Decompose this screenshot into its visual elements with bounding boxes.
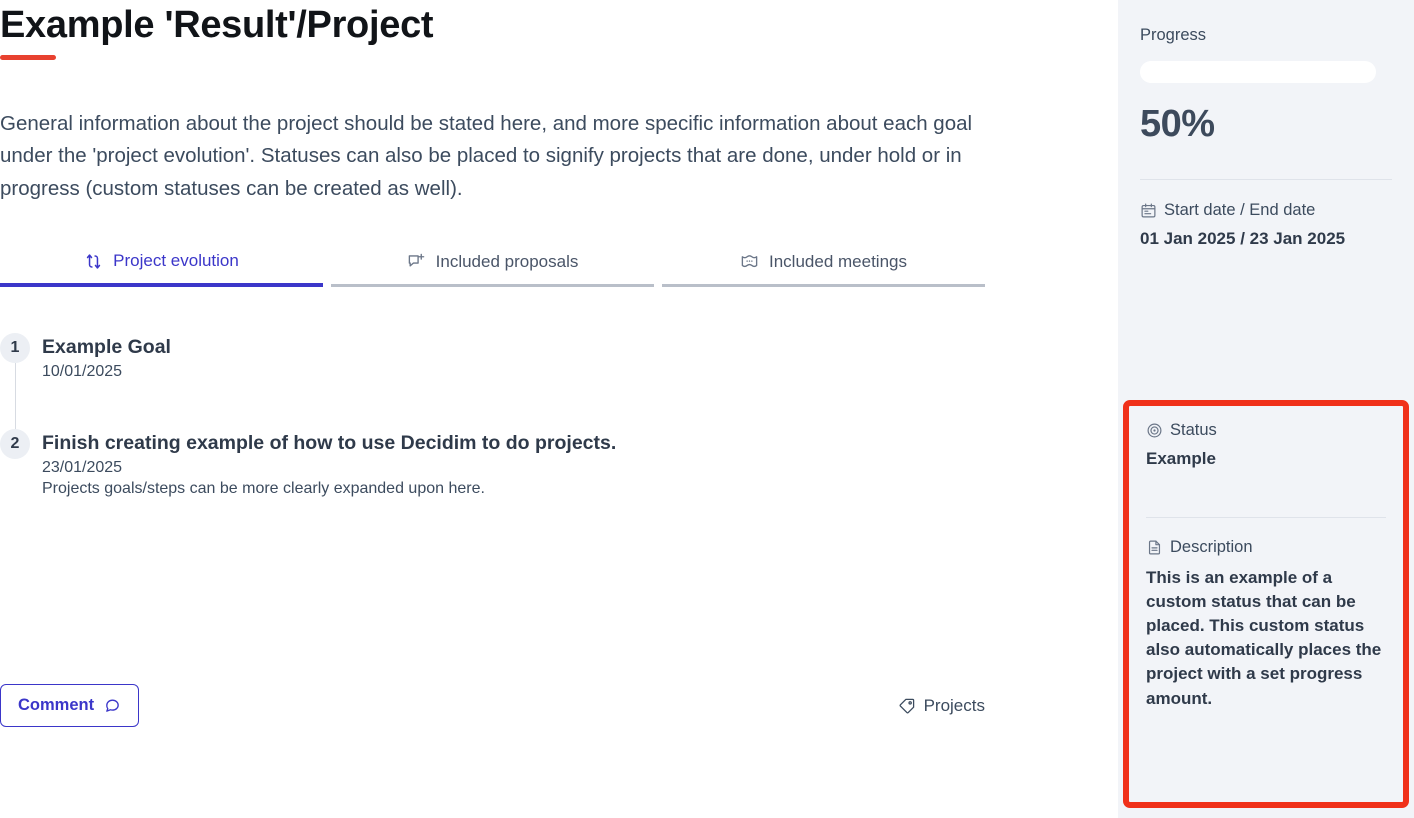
- timeline-item-title: Example Goal: [42, 335, 171, 359]
- timeline-step-number: 1: [0, 333, 30, 363]
- tab-bar: Project evolution Included proposals: [0, 251, 985, 287]
- description-value: This is an example of a custom status th…: [1146, 566, 1386, 711]
- timeline-step-number: 2: [0, 429, 30, 459]
- timeline-connector-line: [15, 363, 17, 435]
- title-accent-rule: [0, 55, 56, 60]
- timeline-item: 1 Example Goal 10/01/2025: [0, 333, 1100, 429]
- progress-bar: [1140, 61, 1376, 83]
- tab-label: Included meetings: [769, 252, 907, 272]
- comment-button-label: Comment: [18, 696, 94, 715]
- project-evolution-timeline: 1 Example Goal 10/01/2025 2 Finish creat…: [0, 333, 1100, 506]
- progress-label: Progress: [1140, 26, 1392, 45]
- tab-label: Project evolution: [113, 251, 239, 271]
- timeline-item-date: 23/01/2025: [42, 459, 616, 477]
- description-label: Description: [1170, 538, 1253, 557]
- speech-bubble-icon: [104, 697, 121, 714]
- status-value: Example: [1146, 448, 1386, 471]
- calendar-icon: [1140, 202, 1157, 219]
- dates-block: Start date / End date 01 Jan 2025 / 23 J…: [1140, 180, 1392, 251]
- timeline-item-body: Example Goal 10/01/2025: [42, 333, 171, 381]
- timeline-item-body: Finish creating example of how to use De…: [42, 429, 616, 498]
- comment-button[interactable]: Comment: [0, 684, 139, 727]
- tab-included-proposals[interactable]: Included proposals: [331, 251, 654, 287]
- proposal-bubble-plus-icon: [407, 252, 426, 271]
- description-label-row: Description: [1146, 538, 1386, 557]
- timeline-item-date: 10/01/2025: [42, 363, 171, 381]
- dates-label: Start date / End date: [1164, 201, 1315, 220]
- progress-value: 50%: [1140, 103, 1392, 146]
- meeting-banner-icon: [740, 252, 759, 271]
- status-label: Status: [1170, 421, 1217, 440]
- timeline-item: 2 Finish creating example of how to use …: [0, 429, 1100, 506]
- status-label-row: Status: [1146, 421, 1386, 440]
- tag-icon: [898, 697, 916, 715]
- dates-value: 01 Jan 2025 / 23 Jan 2025: [1140, 228, 1392, 251]
- projects-tag-label: Projects: [924, 696, 985, 716]
- progress-bar-fill: [1140, 61, 1258, 83]
- description-block: Description This is an example of a cust…: [1146, 518, 1386, 711]
- page-title: Example 'Result'/Project: [0, 0, 1100, 46]
- sidebar: Progress 50% Start date / End date 01 Ja…: [1118, 0, 1414, 818]
- dates-label-row: Start date / End date: [1140, 201, 1392, 220]
- exchange-arrows-icon: [84, 252, 103, 271]
- projects-tag[interactable]: Projects: [898, 696, 985, 716]
- tab-project-evolution[interactable]: Project evolution: [0, 251, 323, 287]
- tab-included-meetings[interactable]: Included meetings: [662, 251, 985, 287]
- intro-paragraph: General information about the project sh…: [0, 108, 985, 205]
- status-description-highlight: Status Example Description This is an ex…: [1123, 400, 1409, 808]
- document-icon: [1146, 539, 1163, 556]
- timeline-item-title: Finish creating example of how to use De…: [42, 431, 616, 455]
- tab-label: Included proposals: [436, 252, 579, 272]
- target-icon: [1146, 422, 1163, 439]
- main-content: Example 'Result'/Project General informa…: [0, 0, 1100, 818]
- timeline-item-description: Projects goals/steps can be more clearly…: [42, 480, 616, 498]
- content-footer: Comment Projects: [0, 684, 985, 727]
